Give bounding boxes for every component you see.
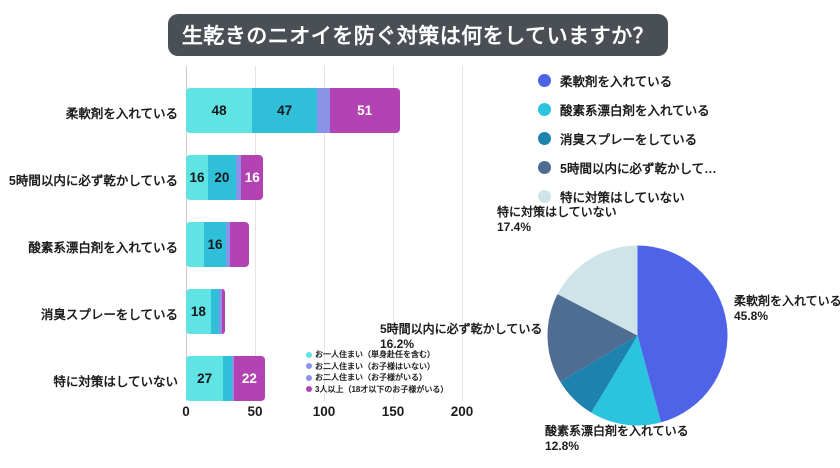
bar-segment[interactable]: 16 bbox=[186, 155, 208, 200]
pie-callout-dry: 5時間以内に必ず乾かしている 16.2% bbox=[380, 322, 542, 353]
bar-segment[interactable]: 48 bbox=[186, 88, 252, 133]
pie-legend-item[interactable]: 柔軟剤を入れている bbox=[538, 66, 717, 95]
bar-segment[interactable] bbox=[223, 356, 231, 401]
bar-segment[interactable] bbox=[317, 88, 329, 133]
legend-dot-icon bbox=[538, 132, 551, 145]
pie-callout-softener-value: 45.8% bbox=[734, 309, 840, 324]
pie-legend-label: 酸素系漂白剤を入れている bbox=[560, 100, 710, 119]
pie-callout-bleach: 酸素系漂白剤を入れている 12.8% bbox=[545, 424, 689, 455]
bar-category-label: 柔軟剤を入れている bbox=[0, 103, 178, 122]
legend-dot-icon bbox=[306, 386, 312, 392]
bar-segment[interactable]: 16 bbox=[204, 222, 226, 267]
bar-segment[interactable]: 18 bbox=[186, 289, 211, 334]
pie-callout-none-label: 特に対策はしていない bbox=[497, 205, 617, 220]
legend-dot-icon bbox=[306, 363, 312, 369]
bar-segment[interactable]: 16 bbox=[241, 155, 263, 200]
bar-segment[interactable]: 20 bbox=[208, 155, 236, 200]
bar-segment[interactable]: 51 bbox=[330, 88, 400, 133]
legend-dot-icon bbox=[306, 375, 312, 381]
legend-dot-icon bbox=[538, 161, 551, 174]
pie-legend-label: 消臭スプレーをしている bbox=[560, 129, 697, 148]
bar-segment[interactable] bbox=[230, 222, 249, 267]
x-axis-tick: 0 bbox=[182, 404, 190, 419]
pie-chart bbox=[545, 243, 730, 428]
legend-dot-icon bbox=[538, 74, 551, 87]
pie-callout-bleach-value: 12.8% bbox=[545, 439, 689, 454]
bar-category-label: 酸素系漂白剤を入れている bbox=[0, 237, 178, 256]
household-legend-label: 3人以上（18才以下のお子様がいる） bbox=[315, 384, 448, 395]
legend-dot-icon bbox=[306, 352, 312, 358]
household-legend-item: お二人住まい（お子様はいない） bbox=[306, 361, 486, 372]
bar-segment[interactable] bbox=[211, 289, 219, 334]
pie-legend-item[interactable]: 酸素系漂白剤を入れている bbox=[538, 95, 717, 124]
bar-category-label: 5時間以内に必ず乾かしている bbox=[0, 170, 178, 189]
household-legend-item: お二人住まい（お子様がいる） bbox=[306, 372, 486, 383]
bar-row[interactable]: 162016 bbox=[186, 155, 263, 200]
household-legend: お一人住まい（単身赴任を含む）お二人住まい（お子様はいない）お二人住まい（お子様… bbox=[306, 349, 486, 395]
bar-row[interactable]: 2722 bbox=[186, 356, 265, 401]
legend-dot-icon bbox=[538, 103, 551, 116]
pie-callout-dry-label: 5時間以内に必ず乾かしている bbox=[380, 322, 542, 337]
pie-callout-bleach-label: 酸素系漂白剤を入れている bbox=[545, 424, 689, 439]
bar-category-label: 特に対策はしていない bbox=[0, 371, 178, 390]
pie-callout-none-value: 17.4% bbox=[497, 220, 617, 235]
household-legend-label: お二人住まい（お子様はいない） bbox=[315, 361, 435, 372]
bar-segment[interactable] bbox=[186, 222, 204, 267]
pie-callout-softener: 柔軟剤を入れている 45.8% bbox=[734, 294, 840, 325]
bar-segment[interactable]: 27 bbox=[186, 356, 223, 401]
x-axis-tick: 150 bbox=[382, 404, 405, 419]
pie-legend-label: 特に対策はしていない bbox=[560, 187, 685, 206]
household-legend-label: お二人住まい（お子様がいる） bbox=[315, 372, 427, 383]
bar-segment[interactable] bbox=[222, 289, 225, 334]
pie-legend: 柔軟剤を入れている酸素系漂白剤を入れている消臭スプレーをしている5時間以内に必ず… bbox=[538, 66, 717, 211]
pie-legend-item[interactable]: 5時間以内に必ず乾かして… bbox=[538, 153, 717, 182]
pie-legend-label: 柔軟剤を入れている bbox=[560, 71, 672, 90]
pie-chart-svg bbox=[545, 243, 730, 428]
x-axis-tick: 100 bbox=[313, 404, 336, 419]
bar-category-label: 消臭スプレーをしている bbox=[0, 304, 178, 323]
bar-row[interactable]: 484751 bbox=[186, 88, 400, 133]
bar-segment[interactable]: 22 bbox=[234, 356, 264, 401]
x-axis-tick: 50 bbox=[247, 404, 262, 419]
page-title-text: 生乾きのニオイを防ぐ対策は何をしていますか？ bbox=[182, 20, 654, 50]
bar-segment[interactable]: 47 bbox=[252, 88, 317, 133]
page-title: 生乾きのニオイを防ぐ対策は何をしていますか？ bbox=[168, 14, 668, 56]
bar-row[interactable]: 16 bbox=[186, 222, 249, 267]
legend-dot-icon bbox=[538, 190, 551, 203]
pie-callout-dry-value: 16.2% bbox=[380, 337, 542, 352]
household-legend-item: 3人以上（18才以下のお子様がいる） bbox=[306, 384, 486, 395]
infographic-root: 生乾きのニオイを防ぐ対策は何をしていますか？ 柔軟剤を入れている5時間以内に必ず… bbox=[0, 0, 840, 468]
bar-row[interactable]: 18 bbox=[186, 289, 225, 334]
x-axis-tick: 200 bbox=[451, 404, 474, 419]
pie-legend-item[interactable]: 消臭スプレーをしている bbox=[538, 124, 717, 153]
pie-legend-label: 5時間以内に必ず乾かして… bbox=[560, 158, 717, 177]
pie-callout-softener-label: 柔軟剤を入れている bbox=[734, 294, 840, 309]
pie-callout-none: 特に対策はしていない 17.4% bbox=[497, 205, 617, 236]
